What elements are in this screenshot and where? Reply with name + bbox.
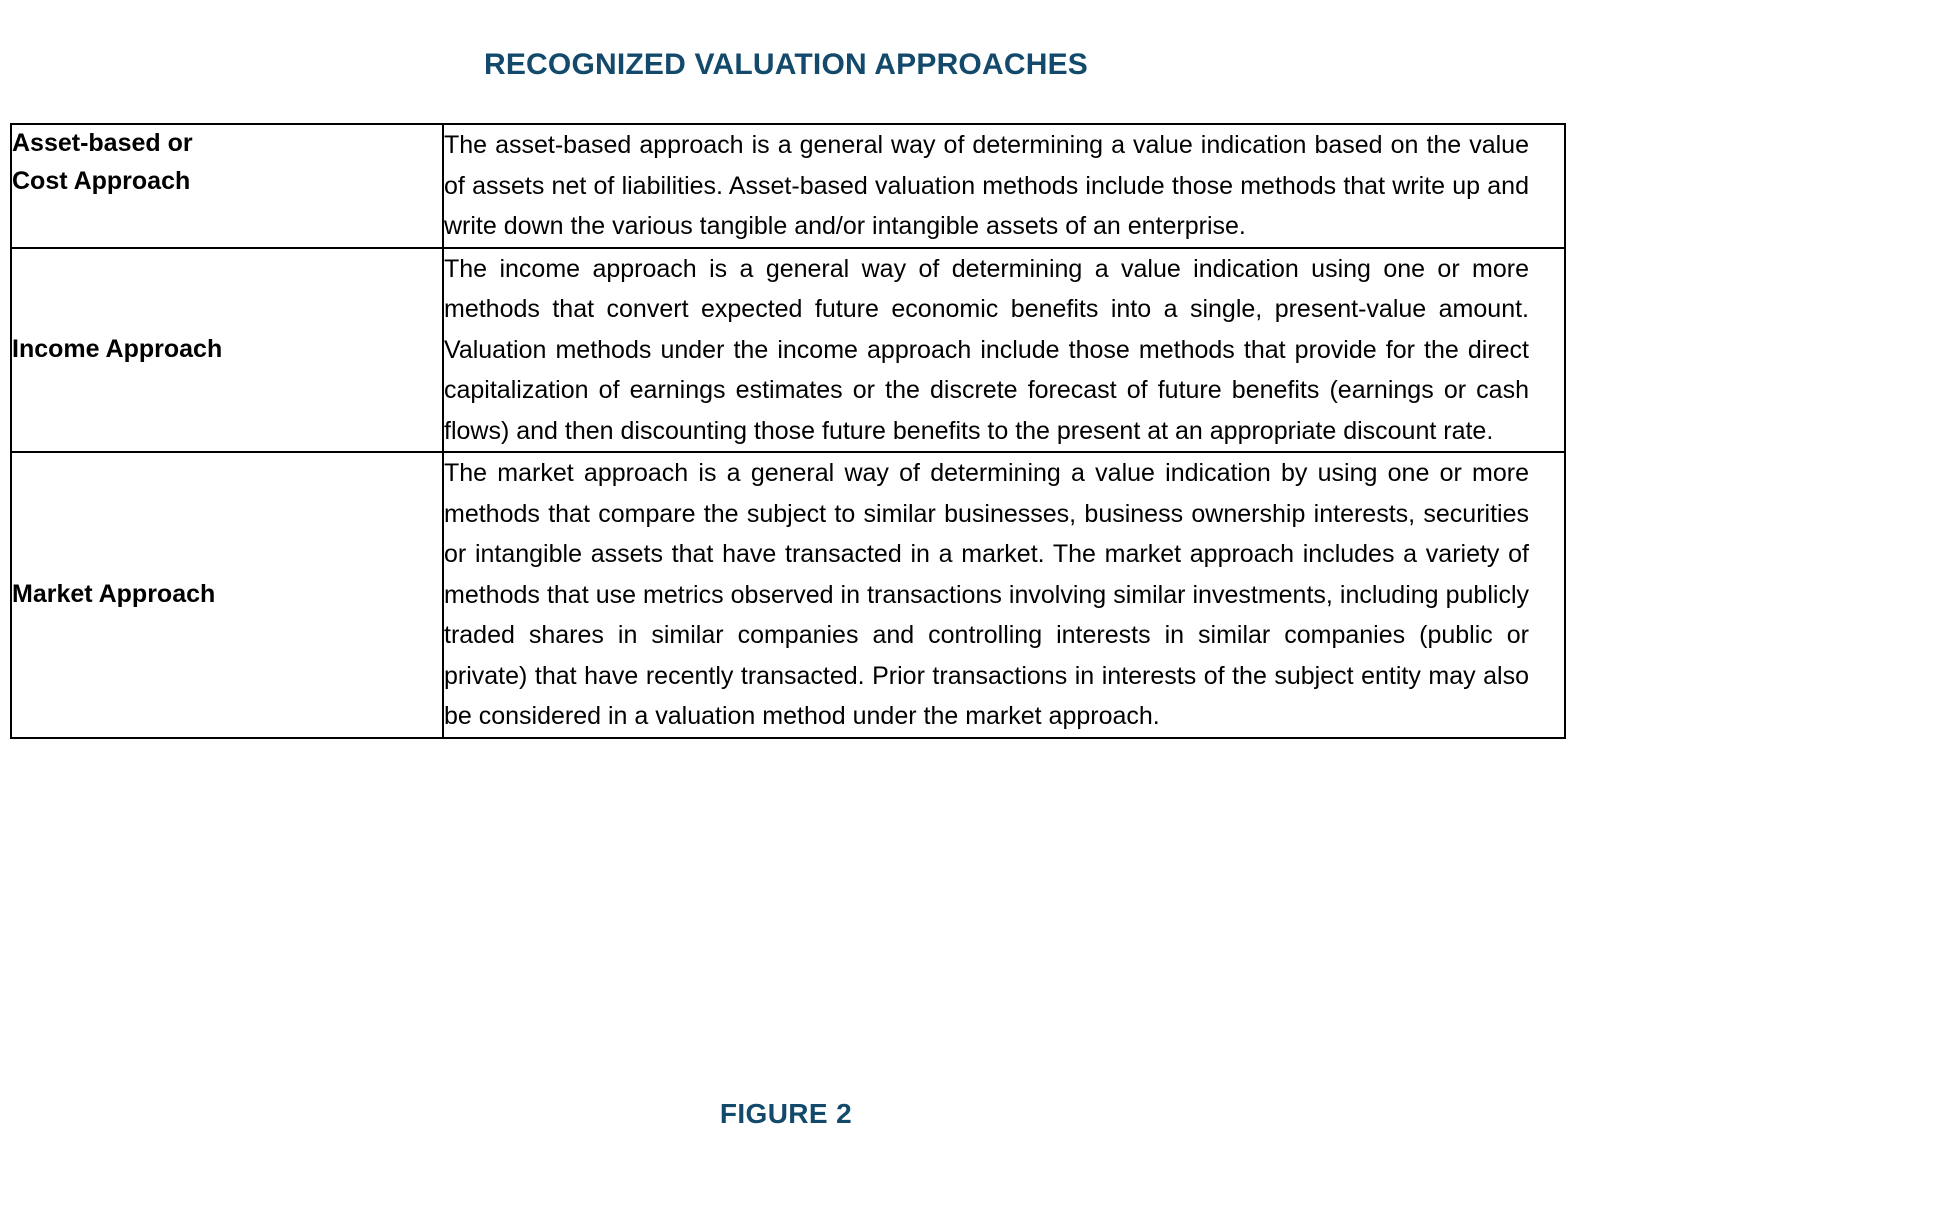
table-row: Asset-based or Cost Approach The asset-b… [11, 124, 1565, 248]
row-label-asset-based: Asset-based or Cost Approach [12, 125, 442, 200]
figure-page: RECOGNIZED VALUATION APPROACHES Asset-ba… [0, 0, 1955, 1214]
figure-caption: FIGURE 2 [0, 1098, 1572, 1130]
row-label-market-approach: Market Approach [12, 576, 442, 614]
valuation-approaches-table: Asset-based or Cost Approach The asset-b… [10, 123, 1566, 739]
row-description-cell-market: The market approach is a general way of … [443, 452, 1565, 738]
row-description-cell-income: The income approach is a general way of … [443, 248, 1565, 453]
page-title: RECOGNIZED VALUATION APPROACHES [0, 48, 1572, 81]
row-label-cell-asset: Asset-based or Cost Approach [11, 124, 443, 248]
row-description-cell-asset: The asset-based approach is a general wa… [443, 124, 1565, 248]
row-description-income-approach: The income approach is a general way of … [444, 249, 1529, 452]
table-row: Income Approach The income approach is a… [11, 248, 1565, 453]
row-label-cell-income: Income Approach [11, 248, 443, 453]
table-row: Market Approach The market approach is a… [11, 452, 1565, 738]
row-description-market-approach: The market approach is a general way of … [444, 453, 1529, 737]
row-label-cell-market: Market Approach [11, 452, 443, 738]
row-label-income-approach: Income Approach [12, 331, 442, 369]
row-description-asset-based: The asset-based approach is a general wa… [444, 125, 1529, 247]
